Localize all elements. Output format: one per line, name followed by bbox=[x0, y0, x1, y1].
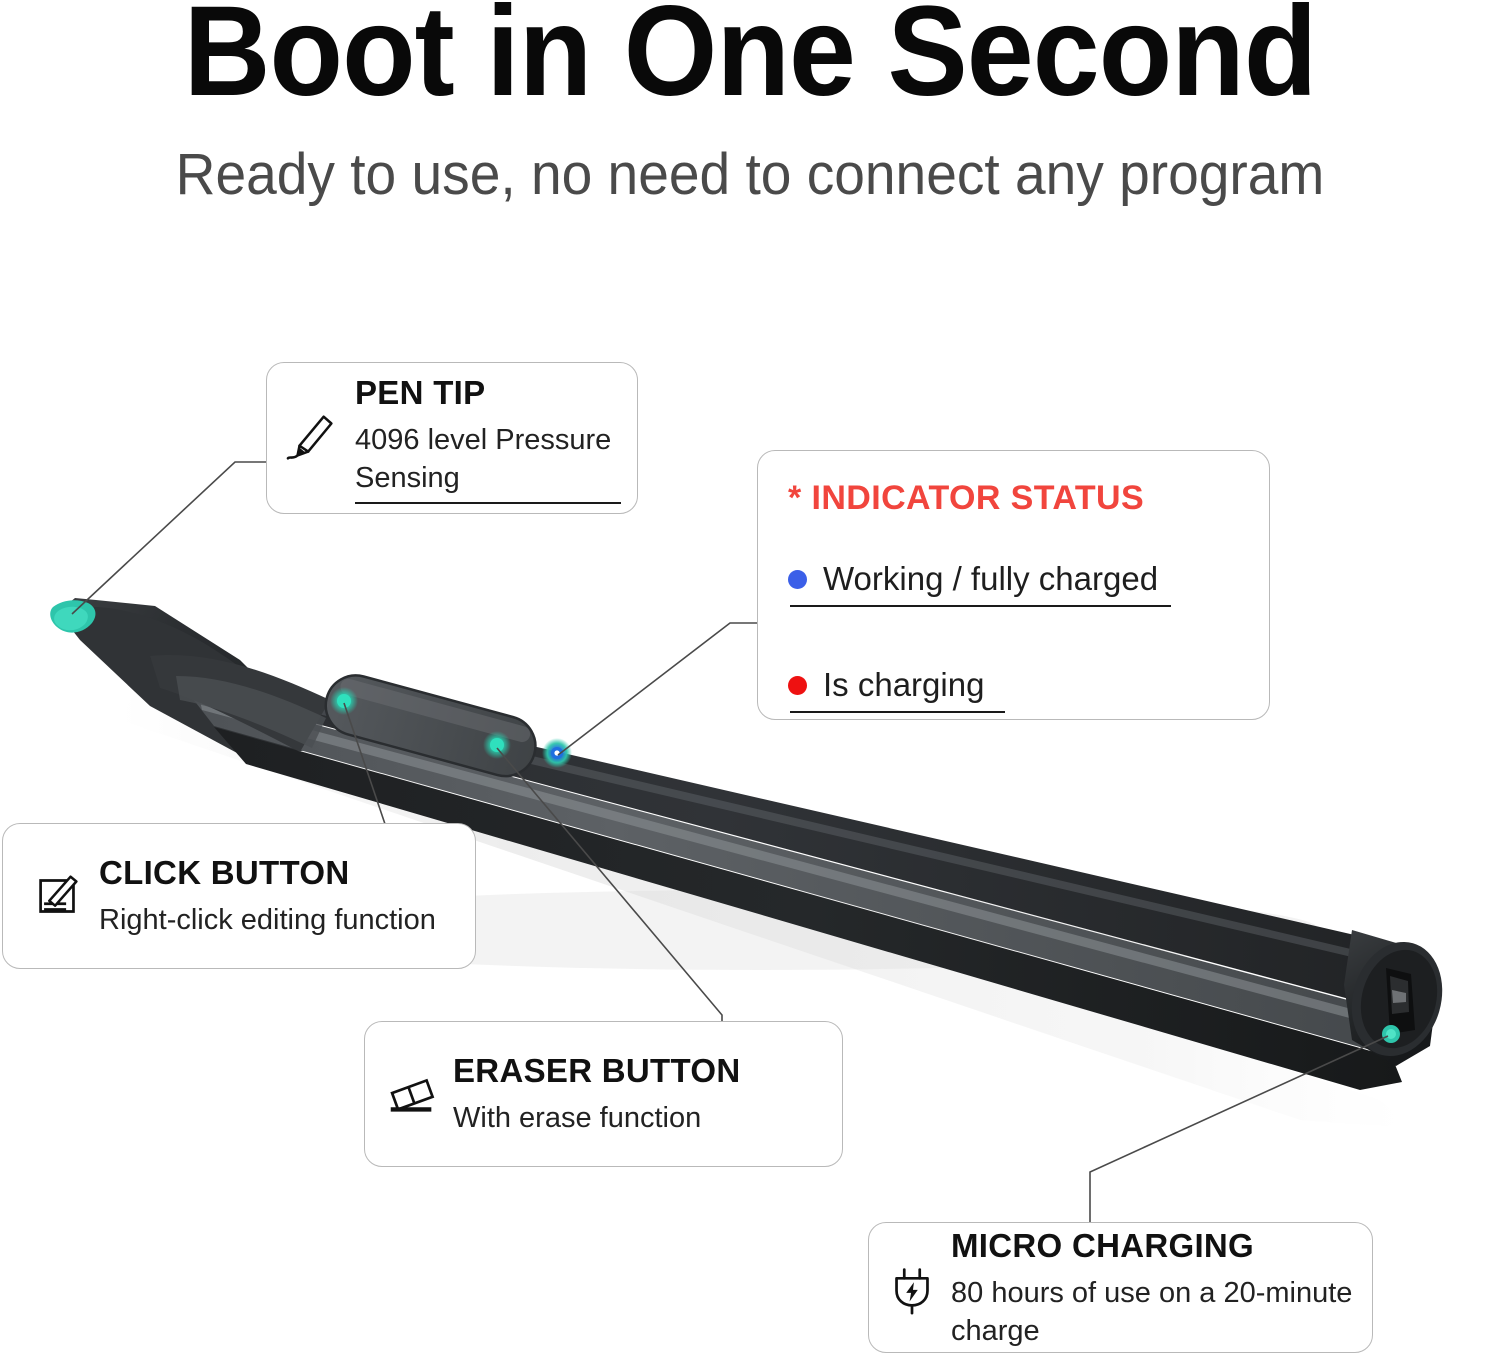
callout-micro-charging[interactable]: MICRO CHARGING 80 hours of use on a 20-m… bbox=[868, 1222, 1373, 1353]
leader-eraser-button bbox=[497, 748, 722, 1022]
callout-subtitle: With erase function bbox=[453, 1099, 826, 1137]
leader-indicator bbox=[558, 623, 759, 755]
callout-subtitle: 80 hours of use on a 20-minute charge bbox=[951, 1274, 1356, 1350]
callout-title: MICRO CHARGING bbox=[951, 1226, 1356, 1266]
callout-pen-tip[interactable]: PEN TIP 4096 level Pressure Sensing bbox=[266, 362, 638, 514]
callout-title: ERASER BUTTON bbox=[453, 1051, 826, 1091]
leader-micro-charging bbox=[1090, 1036, 1388, 1222]
indicator-item-label: Is charging bbox=[823, 663, 984, 707]
indicator-item-label: Working / fully charged bbox=[823, 557, 1158, 601]
callout-eraser-button[interactable]: ERASER BUTTON With erase function bbox=[364, 1021, 843, 1167]
callout-title: PEN TIP bbox=[355, 373, 621, 413]
callout-title: CLICK BUTTON bbox=[99, 853, 459, 893]
stylus-pen-icon bbox=[285, 409, 343, 467]
callout-click-button[interactable]: CLICK BUTTON Right-click editing functio… bbox=[2, 823, 476, 969]
status-dot-red bbox=[788, 676, 807, 695]
status-dot-blue bbox=[788, 570, 807, 589]
edit-square-icon bbox=[29, 867, 87, 925]
indicator-item-charging: Is charging bbox=[788, 663, 1245, 707]
indicator-item-underline bbox=[790, 605, 1171, 607]
callout-subtitle: Right-click editing function bbox=[99, 901, 459, 939]
indicator-status-title: * INDICATOR STATUS bbox=[788, 477, 1245, 519]
indicator-item-working: Working / fully charged bbox=[788, 557, 1245, 601]
plug-bolt-icon bbox=[883, 1259, 941, 1317]
callout-indicator-status[interactable]: * INDICATOR STATUS Working / fully charg… bbox=[757, 450, 1270, 720]
leader-pen-tip bbox=[72, 462, 268, 614]
eraser-icon bbox=[383, 1065, 441, 1123]
callout-subtitle: 4096 level Pressure Sensing bbox=[355, 421, 621, 504]
indicator-item-underline bbox=[790, 711, 1005, 713]
leader-click-button bbox=[344, 703, 385, 824]
